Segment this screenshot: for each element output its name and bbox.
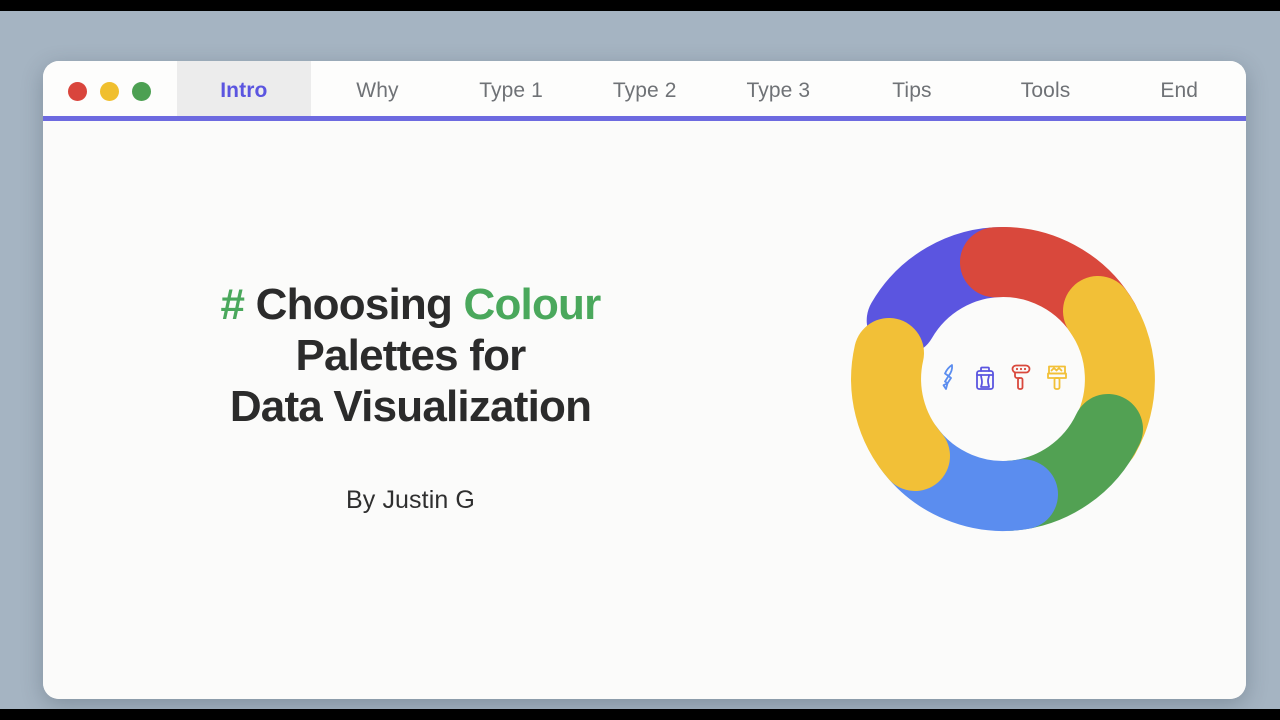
tab-type-3[interactable]: Type 3 (712, 61, 846, 121)
close-button[interactable] (68, 82, 87, 101)
maximize-button[interactable] (132, 82, 151, 101)
tab-type-2-label: Type 2 (613, 79, 677, 103)
colour-wheel-svg (838, 207, 1168, 547)
title-line-2: Palettes for (221, 334, 601, 378)
letterbox-top (0, 0, 1280, 11)
title-line-3: Data Visualization (221, 385, 601, 429)
segment-gold (886, 353, 915, 456)
title-hash: # (221, 280, 245, 329)
tab-type-1-label: Type 1 (479, 79, 543, 103)
author-byline: By Justin G (346, 486, 475, 515)
title-line-1: # Choosing Colour (221, 283, 601, 327)
tab-why-label: Why (356, 79, 398, 103)
tab-type-3-label: Type 3 (746, 79, 810, 103)
tab-tips-label: Tips (892, 79, 931, 103)
tab-tools-label: Tools (1021, 79, 1071, 103)
presentation-window: Intro Why Type 1 Type 2 Type 3 Tips Tool… (43, 61, 1246, 699)
slide-text-column: # Choosing Colour Palettes for Data Visu… (43, 121, 778, 699)
desktop-backdrop: Intro Why Type 1 Type 2 Type 3 Tips Tool… (0, 11, 1280, 709)
title-accent-word: Colour (464, 280, 601, 329)
minimize-button[interactable] (100, 82, 119, 101)
screen-root: Intro Why Type 1 Type 2 Type 3 Tips Tool… (0, 0, 1280, 720)
window-tab-bar: Intro Why Type 1 Type 2 Type 3 Tips Tool… (43, 61, 1246, 121)
tab-end-label: End (1160, 79, 1198, 103)
title-line-1-rest: Choosing (244, 280, 463, 329)
tab-tools[interactable]: Tools (979, 61, 1113, 121)
tab-intro[interactable]: Intro (177, 61, 311, 121)
tab-end[interactable]: End (1112, 61, 1246, 121)
tab-tips[interactable]: Tips (845, 61, 979, 121)
slide-canvas: # Choosing Colour Palettes for Data Visu… (43, 121, 1246, 699)
colour-wheel-donut (838, 207, 1168, 547)
tab-why[interactable]: Why (311, 61, 445, 121)
letterbox-bottom (0, 709, 1280, 720)
tab-type-2[interactable]: Type 2 (578, 61, 712, 121)
tab-list: Intro Why Type 1 Type 2 Type 3 Tips Tool… (177, 61, 1246, 121)
tab-type-1[interactable]: Type 1 (444, 61, 578, 121)
page-title: # Choosing Colour Palettes for Data Visu… (221, 283, 601, 436)
tab-intro-label: Intro (220, 79, 267, 103)
window-controls (43, 61, 177, 121)
